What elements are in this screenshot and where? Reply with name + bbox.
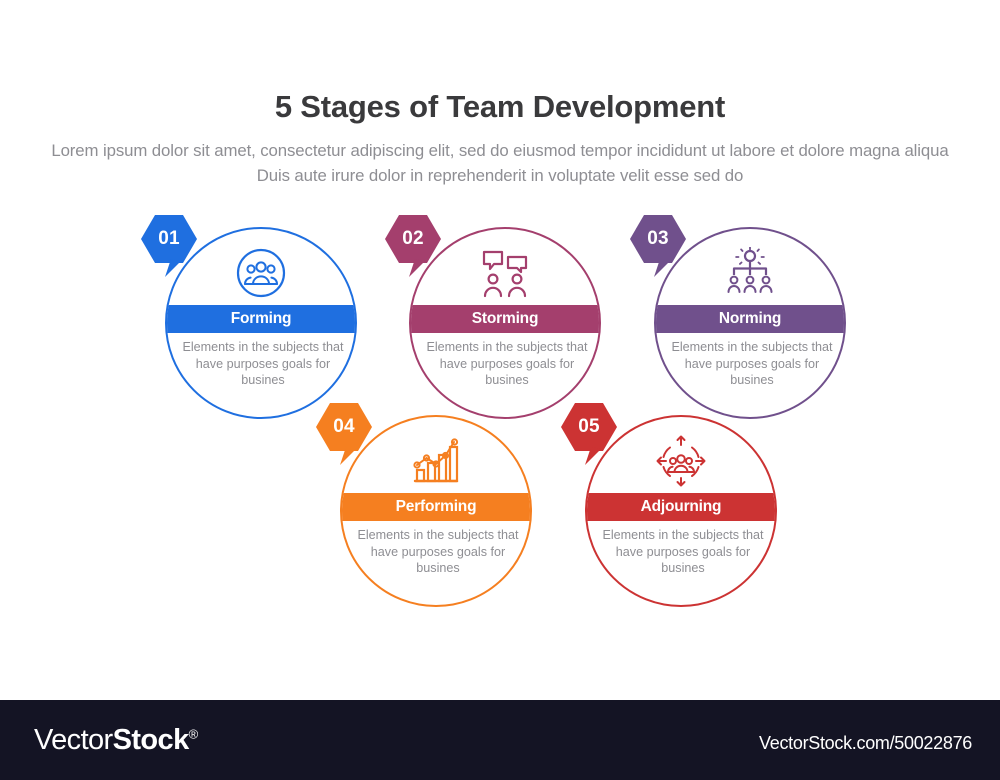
- stage-label: Norming: [719, 310, 781, 328]
- stage-band: Performing: [342, 493, 530, 521]
- vectorstock-logo: VectorStock®: [34, 724, 198, 757]
- stage-description: Elements in the subjects that have purpo…: [666, 339, 838, 389]
- stage-description: Elements in the subjects that have purpo…: [177, 339, 349, 389]
- stage-number: 02: [402, 228, 424, 250]
- brand-name-thin: Vector: [34, 724, 113, 756]
- brand-name-bold: Stock: [113, 724, 189, 756]
- page-subtitle: Lorem ipsum dolor sit amet, consectetur …: [50, 139, 950, 188]
- stage-number: 03: [647, 228, 669, 250]
- stage-card-forming[interactable]: Forming Elements in the subjects that ha…: [165, 227, 357, 419]
- stage-label: Performing: [396, 498, 477, 516]
- stage-card-storming[interactable]: Storming Elements in the subjects that h…: [409, 227, 601, 419]
- stage-label: Storming: [472, 310, 538, 328]
- header: 5 Stages of Team Development Lorem ipsum…: [0, 88, 1000, 188]
- stage-card-adjourning[interactable]: Adjourning Elements in the subjects that…: [585, 415, 777, 607]
- stage-label: Adjourning: [641, 498, 722, 516]
- stage-number-badge[interactable]: 03: [630, 215, 686, 277]
- stage-number-badge[interactable]: 05: [561, 403, 617, 465]
- stage-number: 01: [158, 228, 180, 250]
- registered-trademark-icon: ®: [189, 726, 198, 741]
- stage-card-norming[interactable]: Norming Elements in the subjects that ha…: [654, 227, 846, 419]
- stage-number: 05: [578, 416, 600, 438]
- stage-number-badge[interactable]: 02: [385, 215, 441, 277]
- infographic-canvas: 5 Stages of Team Development Lorem ipsum…: [0, 0, 1000, 700]
- page-title: 5 Stages of Team Development: [0, 88, 1000, 125]
- vectorstock-url: VectorStock.com/50022876: [759, 733, 972, 754]
- stage-description: Elements in the subjects that have purpo…: [421, 339, 593, 389]
- stage-label: Forming: [231, 310, 292, 328]
- stage-number: 04: [333, 416, 355, 438]
- watermark-footer: VectorStock® VectorStock.com/50022876: [0, 700, 1000, 780]
- stage-number-badge[interactable]: 04: [316, 403, 372, 465]
- stage-description: Elements in the subjects that have purpo…: [352, 527, 524, 577]
- stage-band: Storming: [411, 305, 599, 333]
- stage-band: Forming: [167, 305, 355, 333]
- stage-band: Norming: [656, 305, 844, 333]
- stage-card-performing[interactable]: Performing Elements in the subjects that…: [340, 415, 532, 607]
- stage-band: Adjourning: [587, 493, 775, 521]
- stage-description: Elements in the subjects that have purpo…: [597, 527, 769, 577]
- stage-number-badge[interactable]: 01: [141, 215, 197, 277]
